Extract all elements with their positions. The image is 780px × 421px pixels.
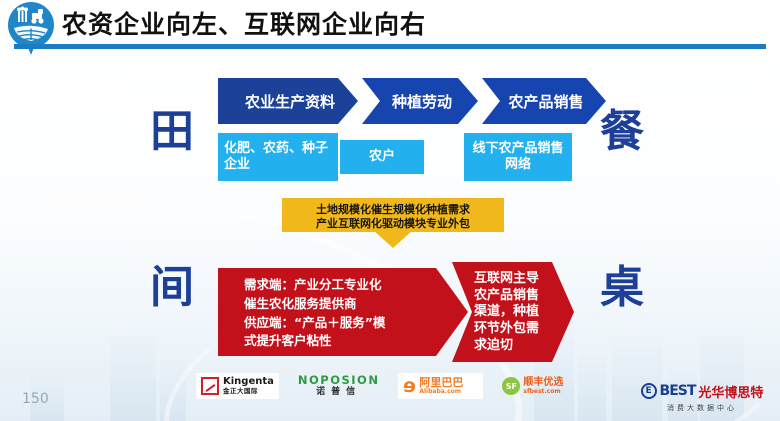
page-title: 农资企业向左、互联网企业向右: [62, 5, 426, 45]
driver-banner-line-2: 产业互联网化驱动模块专业外包: [282, 217, 504, 231]
sfbest-name-cn: 顺丰优选: [523, 378, 563, 388]
alibaba-name-en: Alibaba.com: [419, 389, 463, 395]
alibaba-mark-icon: e: [403, 377, 416, 396]
chain-stage-0-label: 农业生产资料: [241, 91, 335, 112]
driver-banner-line-1: 土地规模化催生规模化种植需求: [282, 203, 504, 217]
chain-stage-1: 种植劳动: [362, 78, 478, 124]
logo-alibaba: e 阿里巴巴 Alibaba.com: [398, 373, 483, 399]
chain-player-0: 化肥、农药、种子企业: [218, 133, 338, 181]
slide-header: 农资企业向左、互联网企业向右: [0, 0, 780, 52]
sfbest-name-en: sfbest.com: [523, 389, 563, 395]
conclusion-left-line-2: 催生农化服务提供商: [244, 295, 434, 314]
brand-subtitle: 消费大数据中心: [667, 403, 737, 413]
label-zhuo: 桌: [600, 266, 644, 310]
logo-kingenta: Kingenta 金正大国际: [196, 373, 279, 399]
chain-stage-2-label: 农产品销售: [504, 91, 583, 112]
sfbest-sun-icon: SF: [502, 377, 520, 395]
kingenta-name-en: Kingenta: [223, 377, 274, 387]
chain-stage-2: 农产品销售: [482, 78, 606, 124]
chain-player-2-label: 线下农产品销售网络: [468, 141, 568, 174]
pin-inner-glyph-icon: [8, 2, 54, 48]
conclusion-right-line-1: 互联网主导: [474, 271, 560, 288]
label-tian: 田: [150, 110, 194, 154]
page-number: 150: [22, 391, 49, 407]
conclusion-left-line-1: 需求端：产业分工专业化: [244, 276, 434, 295]
logo-noposion: NOPOSION 诺普信: [293, 373, 385, 399]
value-chain-row: 农业生产资料 种植劳动 农产品销售: [218, 78, 588, 124]
header-rule: [14, 44, 766, 49]
kingenta-mark-icon: [201, 377, 219, 395]
chain-player-1: 农户: [340, 140, 424, 174]
conclusion-right-line-3: 渠道，种植: [474, 304, 560, 321]
noposion-name-en: NOPOSION: [298, 375, 380, 387]
conclusion-right-line-5: 求迫切: [474, 338, 560, 355]
alibaba-name-cn: 阿里巴巴: [419, 377, 463, 388]
brand-name-cn: 光华博思特: [698, 382, 763, 401]
chain-stage-0: 农业生产资料: [218, 78, 358, 124]
conclusion-left-line-3: 供应端：“产品＋服务”模: [244, 314, 434, 333]
partner-logo-strip: Kingenta 金正大国际 NOPOSION 诺普信 e 阿里巴巴 Aliba…: [196, 371, 576, 401]
logo-sfbest: SF 顺丰优选 sfbest.com: [497, 373, 576, 399]
noposion-name-cn: 诺普信: [316, 388, 361, 397]
conclusion-right-line-4: 环节外包需: [474, 321, 560, 338]
label-jian: 间: [150, 266, 194, 310]
chain-player-0-label: 化肥、农药、种子企业: [224, 141, 332, 174]
brand-mark-icon: E: [641, 383, 657, 399]
label-can: 餐: [600, 110, 644, 154]
kingenta-name-cn: 金正大国际: [223, 388, 274, 395]
chain-stage-1-label: 种植劳动: [388, 91, 452, 112]
chain-player-2: 线下农产品销售网络: [464, 133, 572, 181]
conclusion-left: 需求端：产业分工专业化 催生农化服务提供商 供应端：“产品＋服务”模 式提升客户…: [218, 268, 468, 356]
conclusion-right-line-2: 农产品销售: [474, 288, 560, 305]
chain-player-1-label: 农户: [369, 149, 395, 165]
brand-name-en: BEST: [660, 383, 696, 399]
conclusion-left-line-4: 式提升客户粘性: [244, 332, 434, 351]
brand-block: E BEST 光华博思特 消费大数据中心: [632, 381, 772, 413]
slide-canvas: 农资企业向左、互联网企业向右 田 间 餐 桌 农业生产资料 种植劳动 农产品销售…: [0, 0, 780, 421]
